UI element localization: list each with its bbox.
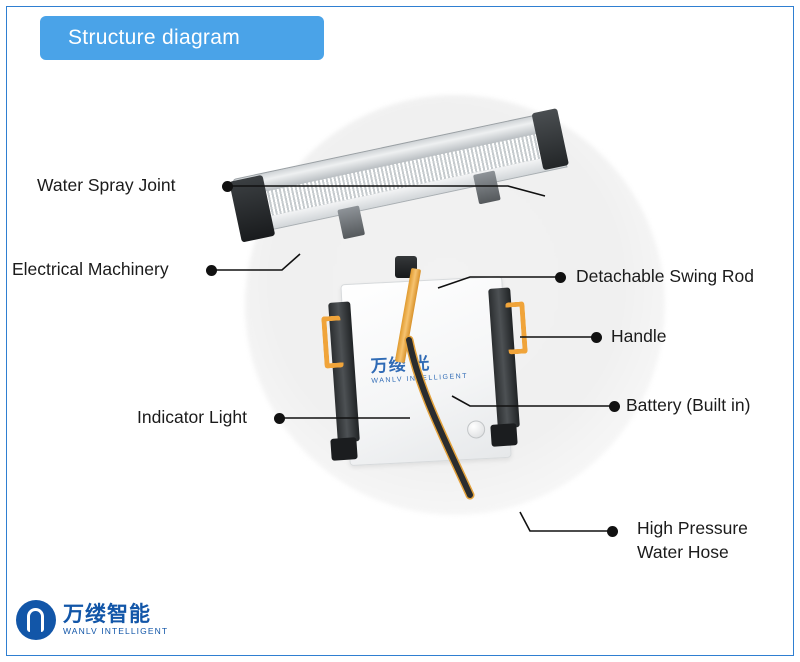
label-high-pressure-water-hose-line2: Water Hose [637,542,729,563]
product-illustration: 万缕 光 WANLV INTELLIGENT [225,130,595,550]
leader-dot-detachable-swing-rod [555,272,566,283]
leader-dot-high-pressure-water-hose [607,526,618,537]
label-battery-built-in: Battery (Built in) [626,395,750,416]
leader-dot-electrical-machinery [206,265,217,276]
leader-dot-indicator-light [274,413,285,424]
brush-bar-assembly [233,110,577,276]
label-high-pressure-water-hose-line1: High Pressure [637,518,748,539]
leader-dot-battery [609,401,620,412]
brand-mark-icon [16,600,56,640]
water-hose-shape [375,330,555,530]
label-detachable-swing-rod: Detachable Swing Rod [576,266,754,287]
leader-dot-handle [591,332,602,343]
footer-brand-logo: 万缕智能 WANLV INTELLIGENT [16,600,168,640]
label-water-spray-joint: Water Spray Joint [37,175,175,196]
label-electrical-machinery: Electrical Machinery [12,259,169,280]
leader-dot-water-spray-joint [222,181,233,192]
footer-brand-en: WANLV INTELLIGENT [63,626,168,636]
handle-clip-left [321,315,344,368]
page-title: Structure diagram [68,26,240,50]
label-indicator-light: Indicator Light [137,407,247,428]
diagram-page: Structure diagram 万缕 光 WANLV INTELLIGENT [0,0,800,662]
swing-rod-left-foot [330,437,357,461]
label-handle: Handle [611,326,666,347]
footer-brand-cn: 万缕智能 [63,604,168,626]
page-title-pill: Structure diagram [40,16,324,60]
